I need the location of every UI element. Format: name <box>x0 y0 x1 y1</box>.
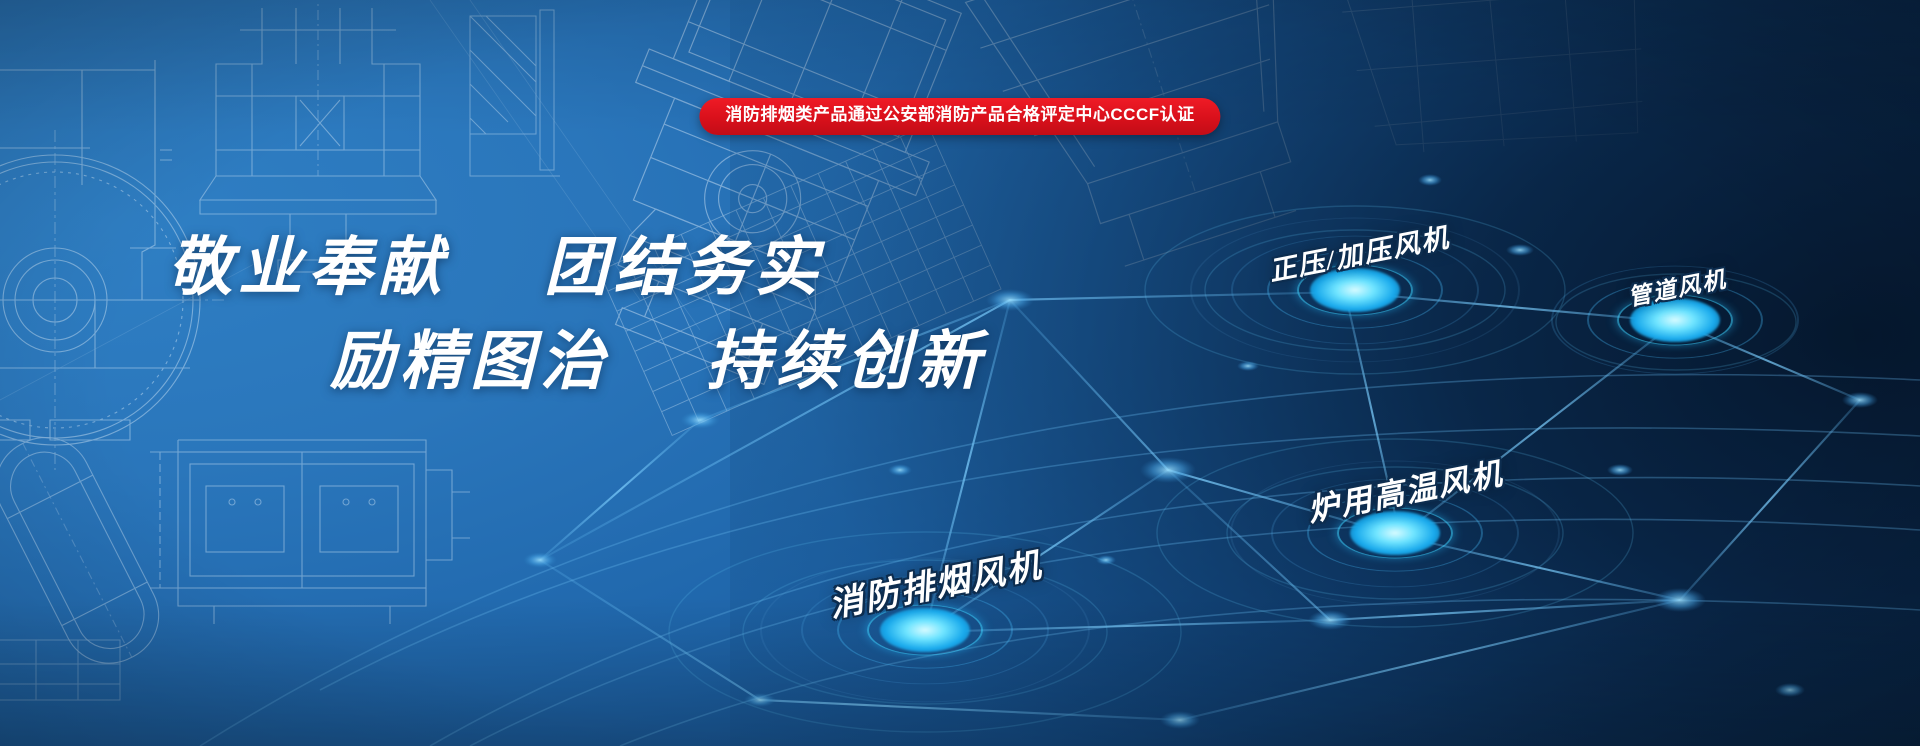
slogan-line-1: 敬业奉献 团结务实 <box>0 236 900 300</box>
slogan-line1-part1: 敬业奉献 <box>168 232 448 303</box>
slogan-line1-part2: 团结务实 <box>544 232 824 303</box>
slogan-line2-part1: 励精图治 <box>330 326 610 397</box>
slogan-line2-part2: 持续创新 <box>706 326 986 397</box>
slogan-line-2: 励精图治 持续创新 <box>0 330 900 394</box>
hero-banner: 正压/加压风机 管道风机 炉用高温风机 消防排烟风机 消防排烟类产品通过公安部消… <box>0 0 1920 746</box>
company-slogan: 敬业奉献 团结务实 励精图治 持续创新 <box>0 236 900 394</box>
certification-badge[interactable]: 消防排烟类产品通过公安部消防产品合格评定中心CCCF认证 <box>699 98 1220 135</box>
